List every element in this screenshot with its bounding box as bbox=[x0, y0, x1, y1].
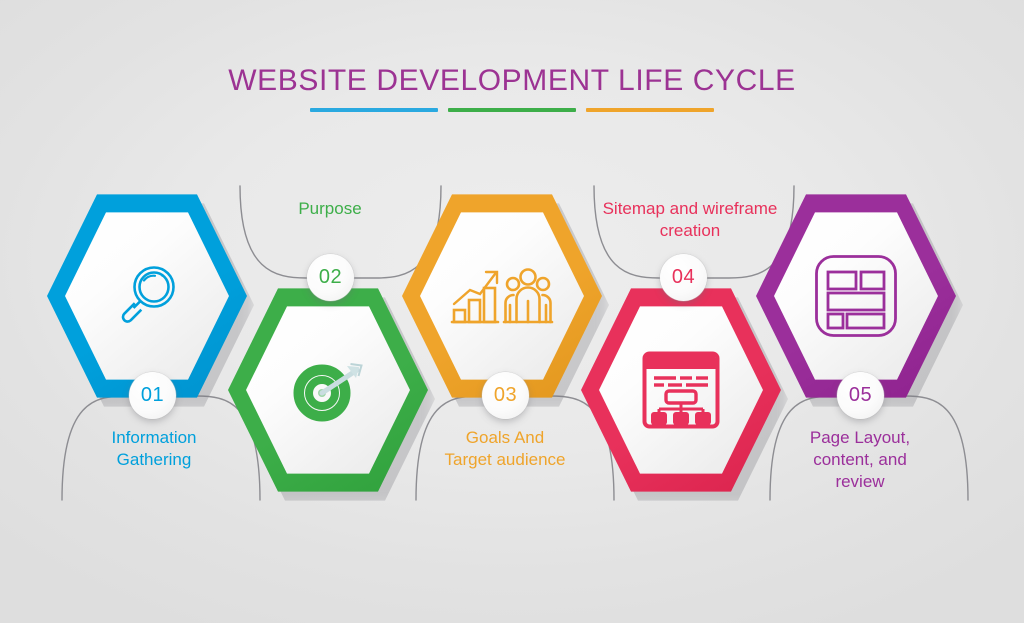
step-badge-03[interactable]: 03 bbox=[482, 372, 529, 419]
badge-number: 01 bbox=[141, 384, 164, 407]
badge-number: 04 bbox=[672, 266, 695, 289]
step-node-02[interactable] bbox=[228, 283, 428, 497]
step-node-01[interactable] bbox=[47, 189, 247, 403]
step-node-04[interactable] bbox=[581, 283, 781, 497]
step-label-03: Goals And Target audience bbox=[415, 427, 595, 471]
step-badge-04[interactable]: 04 bbox=[660, 254, 707, 301]
sitemap-browser-icon bbox=[599, 302, 763, 478]
step-label-05: Page Layout, content, and review bbox=[770, 427, 950, 492]
step-badge-01[interactable]: 01 bbox=[129, 372, 176, 419]
step-label-01: Information Gathering bbox=[64, 427, 244, 471]
magnifying-glass-icon bbox=[65, 208, 229, 384]
target-arrow-icon bbox=[246, 302, 410, 478]
step-badge-02[interactable]: 02 bbox=[307, 254, 354, 301]
growth-chart-people-icon bbox=[420, 208, 584, 384]
badge-number: 02 bbox=[319, 266, 342, 289]
step-node-03[interactable] bbox=[402, 189, 602, 403]
badge-number: 03 bbox=[494, 384, 517, 407]
step-label-02: Purpose bbox=[240, 198, 420, 220]
step-label-04: Sitemap and wireframe creation bbox=[580, 198, 800, 242]
step-badge-05[interactable]: 05 bbox=[837, 372, 884, 419]
badge-number: 05 bbox=[849, 384, 872, 407]
